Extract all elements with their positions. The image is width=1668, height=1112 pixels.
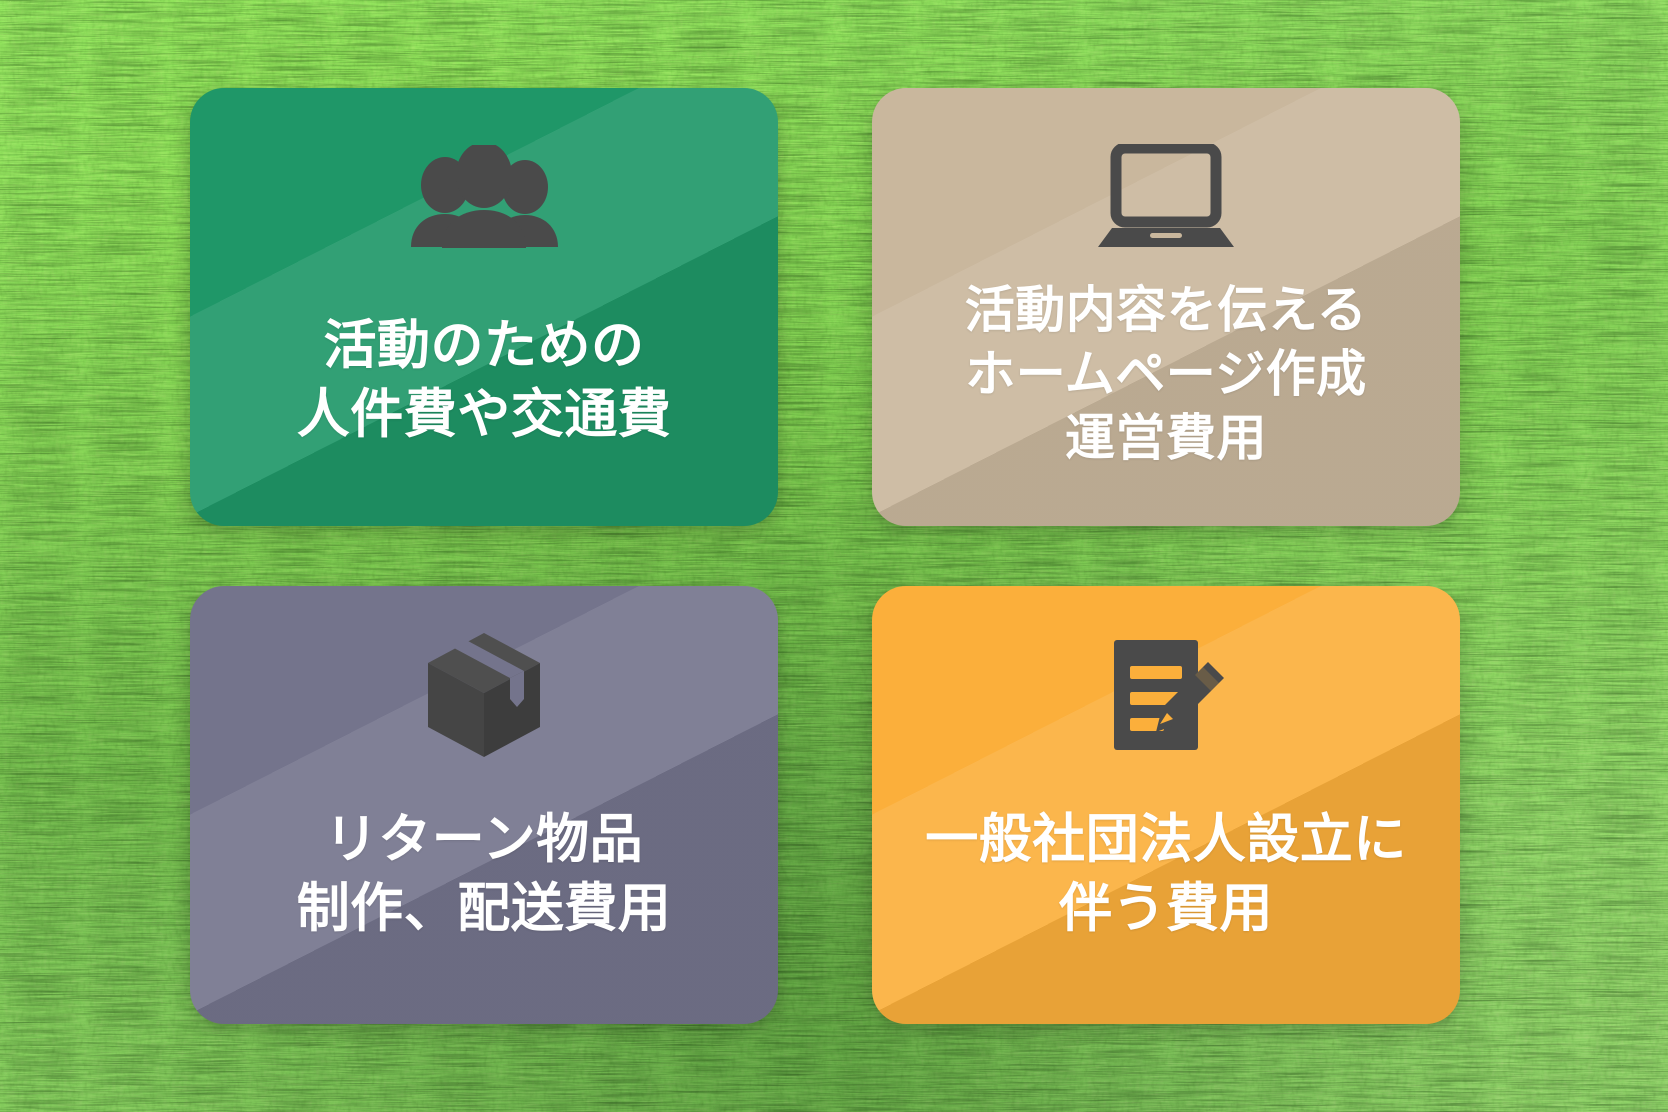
people-group-icon [409, 122, 559, 272]
document-pencil-icon [1104, 620, 1228, 770]
laptop-icon [1098, 122, 1234, 272]
card-return-goods-shipping[interactable]: リターン物品 制作、配送費用 [190, 586, 778, 1024]
cost-breakdown-card-grid: 活動のための 人件費や交通費 活動内容を伝える ホームページ作成 運営費用 [190, 88, 1460, 1024]
card-title-website-operation: 活動内容を伝える ホームページ作成 運営費用 [947, 278, 1386, 470]
card-title-incorporation-cost: 一般社団法人設立に 伴う費用 [907, 806, 1425, 944]
card-title-personnel-transport: 活動のための 人件費や交通費 [279, 312, 690, 450]
card-personnel-transport[interactable]: 活動のための 人件費や交通費 [190, 88, 778, 526]
card-incorporation-cost[interactable]: 一般社団法人設立に 伴う費用 [872, 586, 1460, 1024]
card-website-operation[interactable]: 活動内容を伝える ホームページ作成 運営費用 [872, 88, 1460, 526]
package-box-icon [424, 620, 544, 770]
card-title-return-goods-shipping: リターン物品 制作、配送費用 [279, 806, 690, 944]
